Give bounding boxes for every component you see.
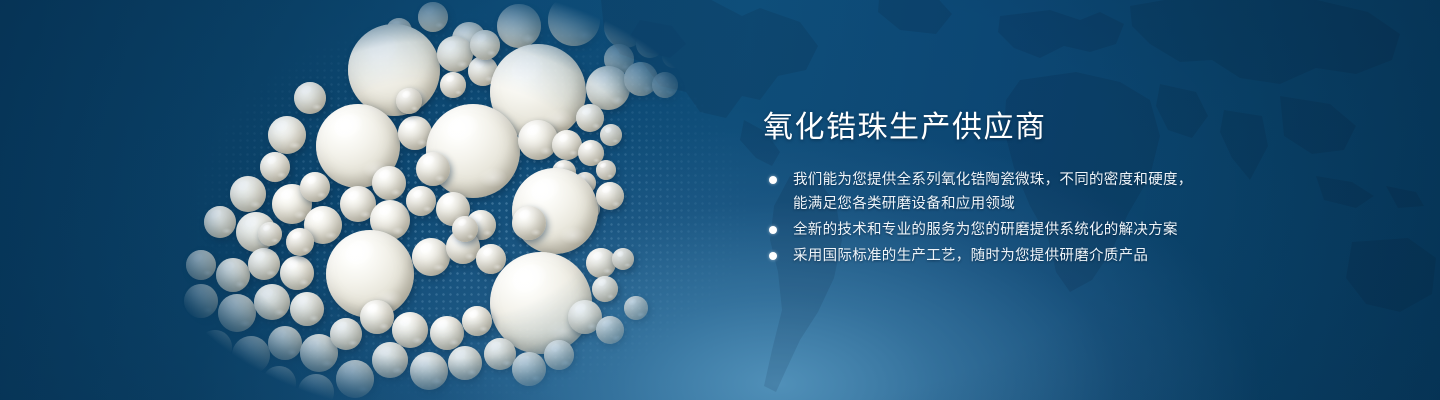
bullet-dot-icon (769, 252, 777, 260)
zirconia-beads-image (0, 0, 760, 400)
list-item: 我们能为您提供全系列氧化锆陶瓷微珠，不同的密度和硬度， 能满足您各类研磨设备和应… (763, 168, 1283, 216)
feature-line-2: 能满足您各类研磨设备和应用领域 (793, 192, 1283, 216)
feature-line-1: 全新的技术和专业的服务为您的研磨提供系统化的解决方案 (793, 222, 1178, 238)
banner-title: 氧化锆珠生产供应商 (763, 108, 1283, 148)
hero-banner: 氧化锆珠生产供应商 我们能为您提供全系列氧化锆陶瓷微珠，不同的密度和硬度， 能满… (0, 0, 1440, 400)
feature-line-1: 采用国际标准的生产工艺，随时为您提供研磨介质产品 (793, 248, 1148, 264)
feature-list: 我们能为您提供全系列氧化锆陶瓷微珠，不同的密度和硬度， 能满足您各类研磨设备和应… (763, 168, 1283, 268)
banner-copy: 氧化锆珠生产供应商 我们能为您提供全系列氧化锆陶瓷微珠，不同的密度和硬度， 能满… (763, 108, 1283, 270)
bullet-dot-icon (769, 226, 777, 234)
bullet-dot-icon (769, 176, 777, 184)
feature-line-1: 我们能为您提供全系列氧化锆陶瓷微珠，不同的密度和硬度， (793, 172, 1193, 188)
list-item: 采用国际标准的生产工艺，随时为您提供研磨介质产品 (763, 244, 1283, 268)
list-item: 全新的技术和专业的服务为您的研磨提供系统化的解决方案 (763, 218, 1283, 242)
